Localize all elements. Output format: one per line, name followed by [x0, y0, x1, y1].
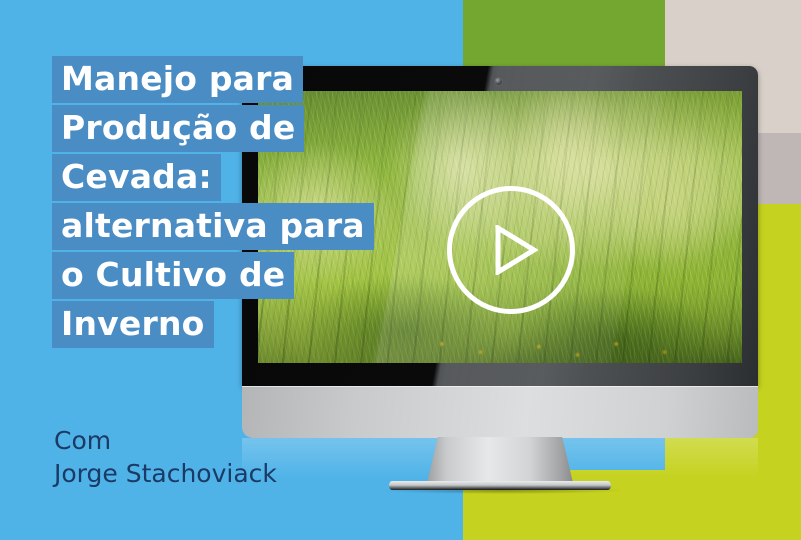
monitor-stand-neck	[426, 437, 574, 487]
play-triangle-icon	[494, 225, 538, 275]
promo-banner: Manejo para Produção de Cevada: alternat…	[0, 0, 801, 540]
title-line-6: Inverno	[52, 301, 214, 348]
speaker-prefix: Com	[54, 424, 277, 457]
title-line-4: alternativa para	[52, 203, 374, 250]
title-line-3: Cevada:	[52, 154, 221, 201]
speaker-name: Jorge Stachoviack	[54, 457, 277, 490]
title-line-1: Manejo para	[52, 56, 303, 103]
webcam-dot-icon	[495, 78, 502, 85]
title-line-5: o Cultivo de	[52, 252, 294, 299]
title-line-2: Produção de	[52, 105, 304, 152]
play-button[interactable]	[447, 186, 575, 314]
speaker-credit: Com Jorge Stachoviack	[54, 424, 277, 490]
title-block: Manejo para Produção de Cevada: alternat…	[52, 56, 452, 348]
monitor-chin	[242, 386, 758, 438]
monitor-stand-shadow	[382, 487, 622, 494]
